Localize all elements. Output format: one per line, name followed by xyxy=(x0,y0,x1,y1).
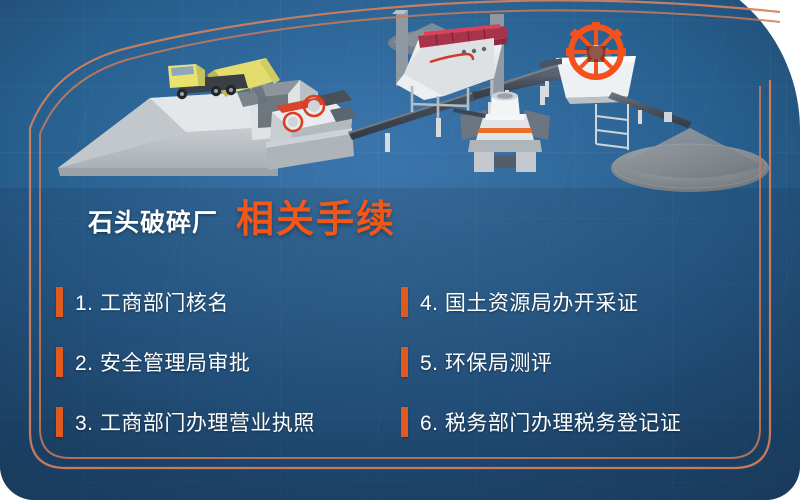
bullet-marker xyxy=(401,287,408,317)
list-item: 1. 工商部门核名 xyxy=(56,272,401,332)
list-item: 5. 环保局测评 xyxy=(401,332,756,392)
procedure-list: 1. 工商部门核名 4. 国土资源局办开采证 2. 安全管理局审批 5. 环保局… xyxy=(56,272,756,452)
title-highlight: 相关手续 xyxy=(236,201,396,239)
list-item-label: 2. 安全管理局审批 xyxy=(75,347,250,377)
list-item: 6. 税务部门办理税务登记证 xyxy=(401,392,756,452)
bullet-marker xyxy=(401,347,408,377)
list-item-label: 1. 工商部门核名 xyxy=(75,287,229,317)
list-item-label: 6. 税务部门办理税务登记证 xyxy=(420,407,681,437)
bullet-marker xyxy=(56,407,63,437)
bullet-marker xyxy=(56,287,63,317)
list-item: 3. 工商部门办理营业执照 xyxy=(56,392,401,452)
list-item-label: 3. 工商部门办理营业执照 xyxy=(75,407,315,437)
bullet-marker xyxy=(401,407,408,437)
list-item: 4. 国土资源局办开采证 xyxy=(401,272,756,332)
title-prefix: 石头破碎厂 xyxy=(88,211,218,236)
list-item-label: 5. 环保局测评 xyxy=(420,347,552,377)
list-item: 2. 安全管理局审批 xyxy=(56,332,401,392)
banner-image: 石头破碎厂 相关手续 1. 工商部门核名 4. 国土资源局办开采证 2. 安全管… xyxy=(0,0,800,500)
list-item-label: 4. 国土资源局办开采证 xyxy=(420,287,638,317)
banner-title: 石头破碎厂 相关手续 xyxy=(88,198,396,236)
bullet-marker xyxy=(56,347,63,377)
